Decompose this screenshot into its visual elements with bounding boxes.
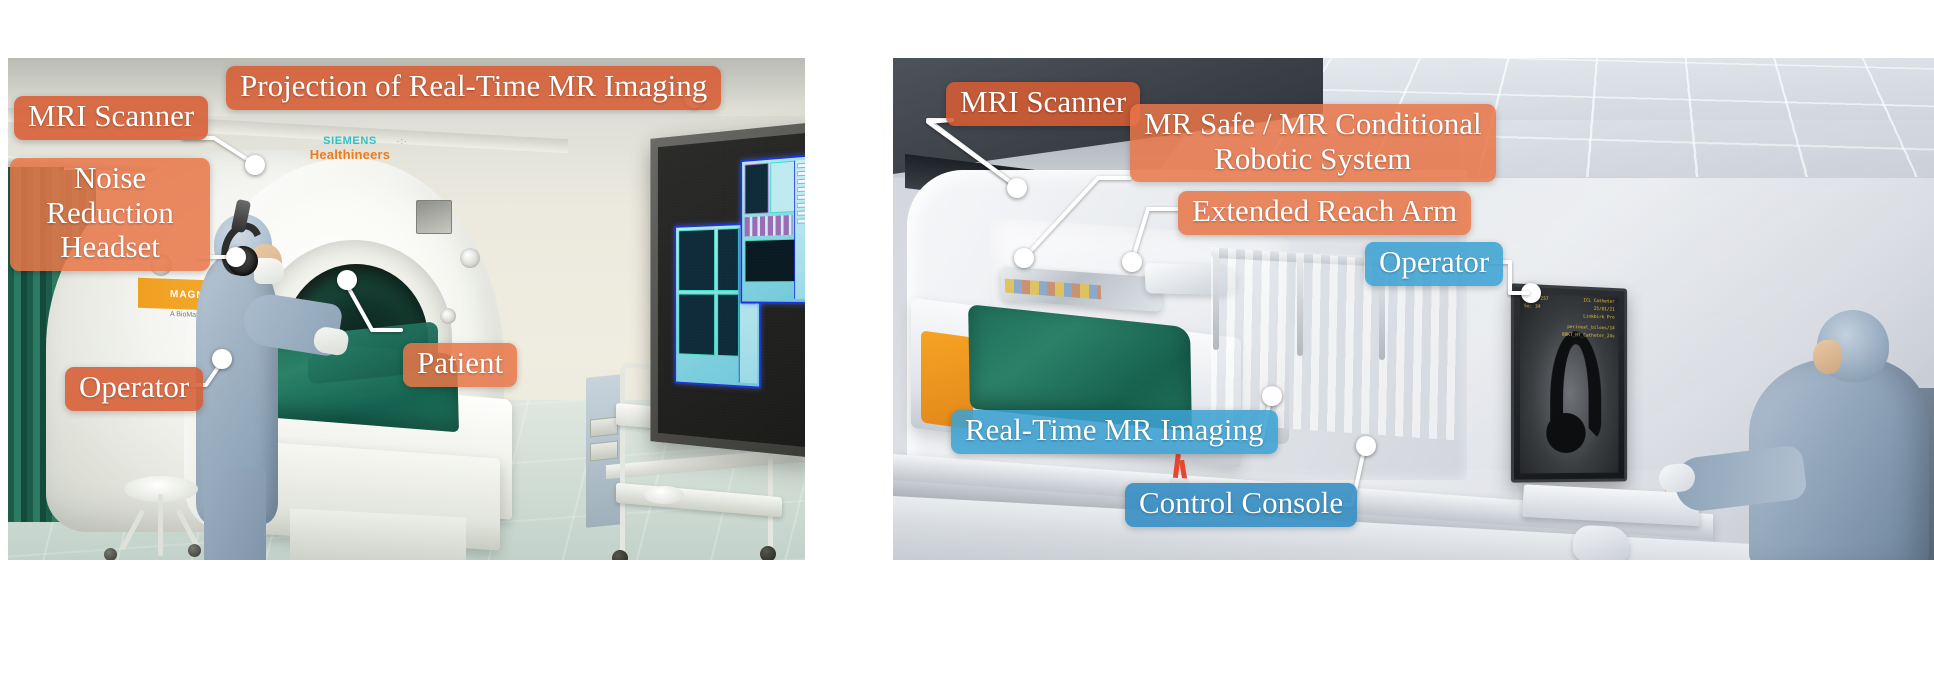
label-projection-of-real-time-mr-imaging[interactable]: Projection of Real-Time MR Imaging [226,66,721,110]
operator-legs [204,468,266,560]
label-mri-scanner[interactable]: MRI Scanner [14,96,208,140]
patient-table-base [290,508,466,560]
monitor-text-date: 25/01/21 [1594,307,1615,315]
real-time-mr-image: Im: 3/257 Se: 34 ICL Catheter 25/01/21 L… [1520,293,1619,474]
mr-image-tile [745,163,769,215]
catheter-bulb-shape [1546,413,1585,453]
cart-wheel [612,550,628,560]
curtain-post [1213,254,1219,350]
wall-outlet [590,441,618,462]
cart-wheel [760,546,776,560]
stool-caster [188,544,201,557]
scanner-knob [460,248,480,268]
cart-bowl [644,486,684,504]
scanner-control-panel [416,200,452,234]
operator-face [1813,340,1841,374]
stool-leg [158,494,163,556]
mr-image-tile [717,228,738,291]
console-mouse [1573,525,1629,560]
monitor-text-image-index: Im: 3/257 [1524,296,1548,304]
operator-face-mask [254,258,284,284]
label-mri-scanner[interactable]: MRI Scanner [946,82,1140,126]
label-noise-reduction-headset[interactable]: Noise Reduction Headset [10,158,210,271]
mr-waveform-area [745,239,795,283]
label-patient[interactable]: Patient [403,343,517,387]
label-operator[interactable]: Operator [65,367,203,411]
mr-viewer-window-right [740,154,805,304]
mr-image-tile [678,294,714,356]
mr-viewer-sidebar [739,227,758,383]
label-extended-reach-arm[interactable]: Extended Reach Arm [1178,191,1471,235]
projection-surface [658,133,805,447]
control-console-monitor: Im: 3/257 Se: 34 ICL Catheter 25/01/21 L… [1511,283,1627,482]
label-real-time-mr-imaging[interactable]: Real-Time MR Imaging [951,410,1278,454]
monitor-text-protocol: Linkbirk Pro [1583,315,1614,323]
stool-caster [104,548,117,560]
label-control-console[interactable]: Control Console [1125,483,1357,527]
mr-image-tile [678,229,714,291]
vendor-division: Healthineers [290,148,410,162]
monitor-text-series: Se: 34 [1524,304,1540,311]
projection-screen [650,122,805,458]
panel-mri-scanner-room: SIEMENS Healthineers ·:· MAGNETOM A BioM… [8,58,805,560]
mr-thumbnail-strip [745,215,793,236]
mr-image-tile [717,294,738,357]
panel-robotic-control-room: 23:05:20 [893,58,1934,560]
cart-post [620,370,625,560]
label-mr-safe-mr-conditional-robotic-system[interactable]: MR Safe / MR Conditional Robotic System [1130,104,1496,182]
wall-outlet [590,417,618,438]
mr-image-tile [770,161,795,214]
vendor-name: SIEMENS [290,136,410,148]
siemens-healthineers-logo: SIEMENS Healthineers ·:· [290,136,410,161]
monitor-text-study: ICL Catheter [1583,299,1614,307]
label-operator[interactable]: Operator [1365,242,1503,286]
mr-viewer-window-left [675,222,761,388]
scanner-knob [440,308,456,324]
annotated-figure: SIEMENS Healthineers ·:· MAGNETOM A BioM… [0,0,1934,700]
mr-viewer-sidebar [794,159,805,299]
vendor-dots-icon: ·:· [397,137,409,146]
headset-earcup [228,246,258,276]
curtain-post [1297,260,1303,356]
